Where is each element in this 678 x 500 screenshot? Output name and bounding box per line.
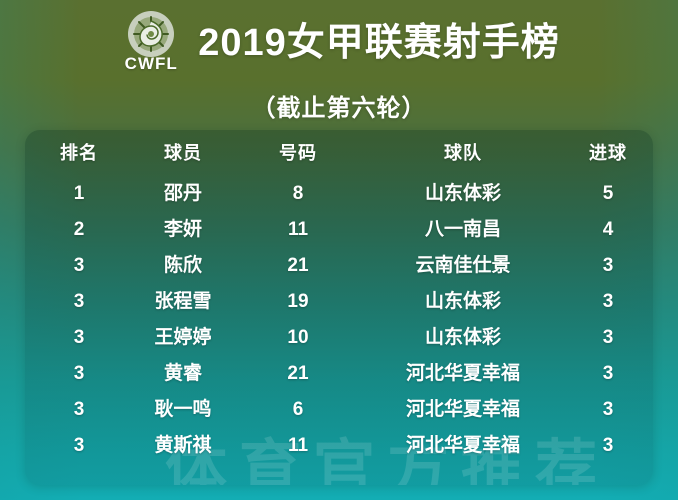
table-row: 3 王婷婷 10 山东体彩 3 <box>25 320 653 356</box>
cell-goals: 3 <box>563 356 653 392</box>
column-header-goals: 进球 <box>563 130 653 176</box>
table-header-row: 排名 球员 号码 球队 进球 <box>25 130 653 176</box>
cell-rank: 3 <box>25 248 133 284</box>
cell-team: 云南佳仕景 <box>363 248 563 284</box>
column-header-team: 球队 <box>363 130 563 176</box>
table-row: 3 耿一鸣 6 河北华夏幸福 3 <box>25 392 653 428</box>
rose-emblem-icon <box>126 9 176 59</box>
table-head: 排名 球员 号码 球队 进球 <box>25 130 653 176</box>
table-row: 3 黄斯祺 11 河北华夏幸福 3 <box>25 428 653 464</box>
cell-rank: 3 <box>25 320 133 356</box>
cell-goals: 3 <box>563 284 653 320</box>
cell-number: 6 <box>233 392 363 428</box>
cell-rank: 3 <box>25 356 133 392</box>
column-header-player: 球员 <box>133 130 233 176</box>
column-header-rank: 排名 <box>25 130 133 176</box>
scorers-card: 体育官方推荐 排名 球员 号码 球队 进球 1 邵丹 8 山东体彩 <box>25 130 653 485</box>
page-subtitle: （截止第六轮） <box>0 88 678 123</box>
cell-number: 8 <box>233 176 363 212</box>
cell-team: 八一南昌 <box>363 212 563 248</box>
cell-team: 河北华夏幸福 <box>363 428 563 464</box>
table-row: 3 黄睿 21 河北华夏幸福 3 <box>25 356 653 392</box>
cell-goals: 3 <box>563 428 653 464</box>
scorers-table: 排名 球员 号码 球队 进球 1 邵丹 8 山东体彩 5 2 李妍 <box>25 130 653 464</box>
cell-player: 陈欣 <box>133 248 233 284</box>
cell-number: 21 <box>233 248 363 284</box>
cell-player: 王婷婷 <box>133 320 233 356</box>
table-row: 3 陈欣 21 云南佳仕景 3 <box>25 248 653 284</box>
table-row: 3 张程雪 19 山东体彩 3 <box>25 284 653 320</box>
table-row: 2 李妍 11 八一南昌 4 <box>25 212 653 248</box>
cell-team: 河北华夏幸福 <box>363 356 563 392</box>
cell-goals: 3 <box>563 248 653 284</box>
cell-rank: 3 <box>25 428 133 464</box>
cell-rank: 1 <box>25 176 133 212</box>
cell-number: 11 <box>233 212 363 248</box>
title-row: CWFL 2019女甲联赛射手榜 <box>0 10 678 76</box>
cell-goals: 5 <box>563 176 653 212</box>
cell-player: 张程雪 <box>133 284 233 320</box>
cell-player: 耿一鸣 <box>133 392 233 428</box>
cell-rank: 3 <box>25 392 133 428</box>
cell-player: 黄斯祺 <box>133 428 233 464</box>
cell-rank: 2 <box>25 212 133 248</box>
cell-player: 黄睿 <box>133 356 233 392</box>
cell-rank: 3 <box>25 284 133 320</box>
cell-number: 11 <box>233 428 363 464</box>
cell-goals: 3 <box>563 320 653 356</box>
table-body: 1 邵丹 8 山东体彩 5 2 李妍 11 八一南昌 4 3 陈欣 21 <box>25 176 653 464</box>
cell-goals: 4 <box>563 212 653 248</box>
poster-header: CWFL 2019女甲联赛射手榜 （截止第六轮） <box>0 0 678 130</box>
cell-team: 山东体彩 <box>363 284 563 320</box>
table-row: 1 邵丹 8 山东体彩 5 <box>25 176 653 212</box>
column-header-number: 号码 <box>233 130 363 176</box>
poster-root: CWFL 2019女甲联赛射手榜 （截止第六轮） 体育官方推荐 排名 球员 号码… <box>0 0 678 500</box>
cell-team: 河北华夏幸福 <box>363 392 563 428</box>
cwfl-logo: CWFL <box>118 9 184 77</box>
cell-player: 李妍 <box>133 212 233 248</box>
cell-team: 山东体彩 <box>363 320 563 356</box>
page-title: 2019女甲联赛射手榜 <box>198 24 560 62</box>
cell-goals: 3 <box>563 392 653 428</box>
cell-team: 山东体彩 <box>363 176 563 212</box>
cell-number: 21 <box>233 356 363 392</box>
cell-player: 邵丹 <box>133 176 233 212</box>
cell-number: 10 <box>233 320 363 356</box>
cell-number: 19 <box>233 284 363 320</box>
cwfl-logo-text: CWFL <box>125 55 178 72</box>
